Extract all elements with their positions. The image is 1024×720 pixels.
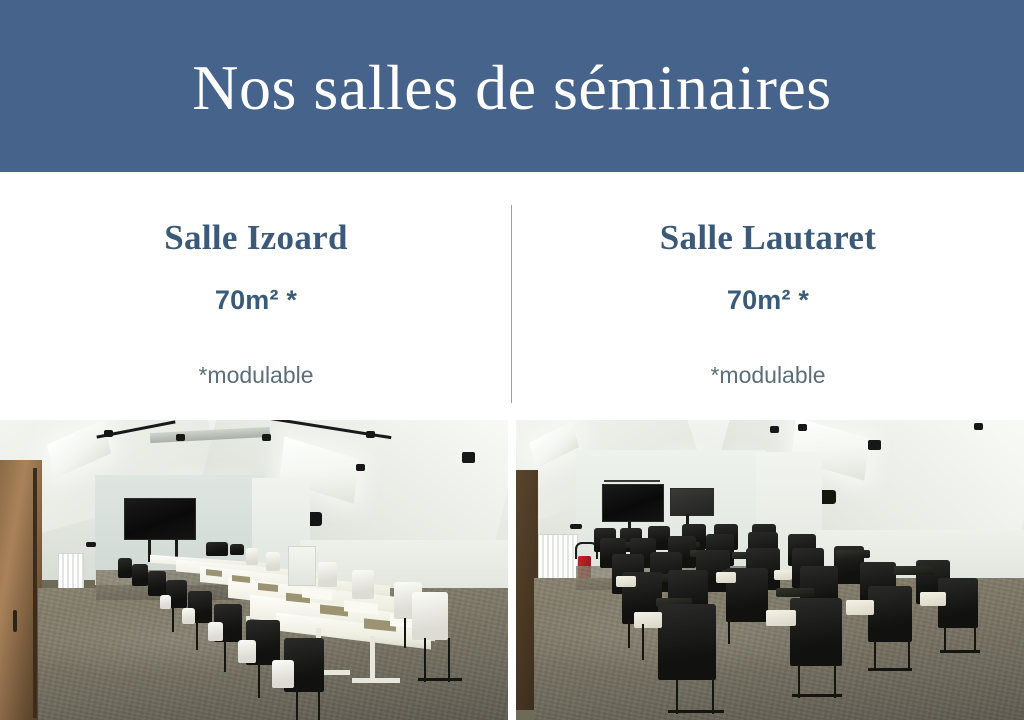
izoard-scene <box>0 420 508 720</box>
ceiling-spot <box>176 434 185 441</box>
chair-black-front <box>868 586 912 642</box>
chair-seat-pale <box>920 592 946 606</box>
chair-leg <box>676 678 678 714</box>
table-leg <box>370 636 375 682</box>
chair-black-front <box>658 604 716 680</box>
room-size-lautaret: 70m² * <box>512 255 1024 314</box>
chair-writing-tablet <box>836 550 870 558</box>
page-title: Nos salles de séminaires <box>192 56 831 120</box>
header-banner: Nos salles de séminaires <box>0 0 1024 172</box>
chair-seat-white <box>160 595 171 609</box>
lautaret-scene <box>516 420 1024 720</box>
ceiling-spot <box>462 452 475 463</box>
ceiling-spot <box>366 431 375 438</box>
door-frame-edge <box>33 468 37 718</box>
tv-screen-main <box>602 484 664 522</box>
chair-seat-white <box>272 660 294 688</box>
chair-seat-pale <box>616 576 636 587</box>
chair-writing-tablet <box>776 588 814 597</box>
room-note-izoard: *modulable <box>0 314 512 387</box>
chair-seat-white <box>238 640 256 663</box>
tv-screen-secondary <box>670 488 714 516</box>
room-photo-lautaret <box>516 420 1024 720</box>
room-column-izoard: Salle Izoard 70m² * *modulable <box>0 172 512 420</box>
chair-seat-pale <box>846 600 874 615</box>
ceiling-spot <box>356 464 365 471</box>
chair-leg-foot <box>792 694 842 697</box>
rooms-photo-row <box>0 420 1024 720</box>
chair-leg <box>448 638 450 682</box>
chair-leg <box>224 638 226 672</box>
back-panel <box>288 546 316 586</box>
chair-seat-pale <box>766 610 796 626</box>
chair-leg-foot <box>940 650 980 653</box>
ceiling-spot <box>798 424 807 431</box>
door-handle <box>13 610 17 632</box>
chair-leg <box>798 664 800 698</box>
chair-black <box>148 571 166 596</box>
table-leg-foot <box>352 678 400 683</box>
chair-seat-white <box>182 608 195 624</box>
ceiling-spot <box>770 426 779 433</box>
chair-leg <box>628 620 630 648</box>
chair-white <box>318 562 337 587</box>
rooms-text-row: Salle Izoard 70m² * *modulable Salle Lau… <box>0 172 1024 420</box>
chair-white <box>412 592 448 640</box>
chair-black <box>118 558 132 578</box>
ceiling-spot <box>262 434 271 441</box>
chair-leg-foot <box>868 668 912 671</box>
room-note-lautaret: *modulable <box>512 314 1024 387</box>
ceiling-spot <box>974 423 983 430</box>
slide-root: Nos salles de séminaires Salle Izoard 70… <box>0 0 1024 720</box>
chair-writing-tablet <box>894 566 934 575</box>
av-equipment <box>230 544 244 555</box>
room-title-izoard: Salle Izoard <box>0 172 512 255</box>
chair-leg <box>172 606 174 632</box>
chair-leg <box>318 688 320 720</box>
room-size-izoard: 70m² * <box>0 255 512 314</box>
chair-leg <box>258 660 260 698</box>
room-column-lautaret: Salle Lautaret 70m² * *modulable <box>512 172 1024 420</box>
chair-white <box>352 570 374 599</box>
chair-seat-pale <box>774 570 792 580</box>
chair-leg-foot <box>418 678 462 681</box>
chair-leg <box>196 620 198 650</box>
chair-leg-foot <box>668 710 724 713</box>
chair-leg <box>642 624 644 660</box>
chair-seat-pale <box>716 572 736 583</box>
chair-leg <box>728 618 730 644</box>
chair-leg <box>424 638 426 682</box>
tv-screen <box>124 498 196 540</box>
room-title-lautaret: Salle Lautaret <box>512 172 1024 255</box>
ceiling-spot <box>104 430 113 437</box>
wall-socket <box>570 524 582 529</box>
chair-leg <box>404 618 406 648</box>
chair-leg <box>296 686 298 720</box>
chair-black <box>132 564 148 586</box>
wall-socket <box>86 542 96 547</box>
av-equipment <box>206 542 228 556</box>
chair-leg <box>974 626 976 652</box>
chair-seat-white <box>208 622 223 641</box>
tv-mount-bar <box>604 480 660 482</box>
chair-leg <box>944 626 946 652</box>
chair-white <box>266 552 280 571</box>
room-photo-izoard <box>0 420 508 720</box>
chair-leg <box>834 664 836 698</box>
chair-white <box>246 548 258 565</box>
chair-leg <box>908 640 910 670</box>
ceiling-spot <box>868 440 881 450</box>
chair-seat-pale <box>634 612 662 628</box>
chair-leg <box>712 678 714 714</box>
chair-black-front <box>790 598 842 666</box>
chair-leg <box>874 640 876 670</box>
